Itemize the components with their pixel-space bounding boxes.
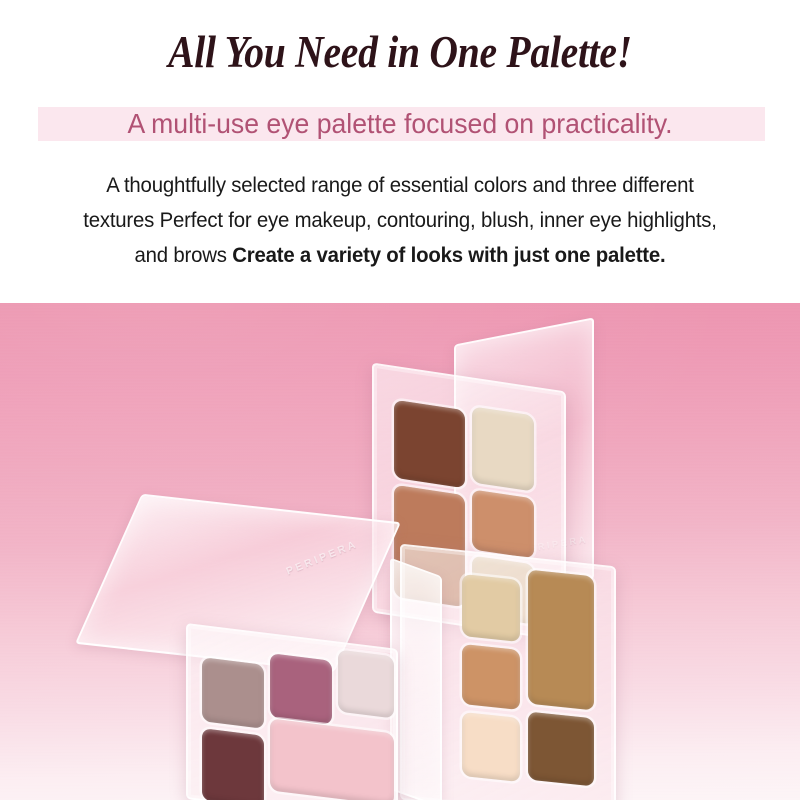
body-line-3: and brows Create a variety of looks with… bbox=[51, 238, 749, 273]
body-line-2: textures Perfect for eye makeup, contour… bbox=[51, 203, 749, 238]
body-line-1: A thoughtfully selected range of essenti… bbox=[51, 168, 749, 203]
pan-camel-matte bbox=[528, 570, 594, 711]
pan-ivory-matte bbox=[462, 712, 520, 782]
pan-dark-brown-matte bbox=[394, 400, 465, 489]
pan-plum-pink-shimmer bbox=[270, 653, 332, 725]
body-copy: A thoughtfully selected range of essenti… bbox=[40, 168, 760, 273]
pan-mauve-taupe-matte bbox=[202, 657, 264, 729]
body-line-3-regular: and brows bbox=[134, 244, 232, 267]
pan-chocolate-matte bbox=[528, 712, 594, 787]
pan-copper-shimmer bbox=[462, 644, 520, 710]
pan-baby-pink-matte bbox=[270, 718, 394, 800]
palette-center-right-warm bbox=[400, 555, 615, 800]
product-photo: PERIPERA PERIPERA bbox=[0, 303, 800, 800]
pan-gold-glitter bbox=[462, 574, 520, 642]
promo-text-block: All You Need in One Palette! A multi-use… bbox=[0, 0, 800, 303]
pan-white-glitter bbox=[338, 650, 394, 719]
body-line-3-bold: Create a variety of looks with just one … bbox=[232, 244, 665, 267]
pan-burgundy-matte bbox=[202, 728, 264, 800]
palette-lower-left-pink: PERIPERA bbox=[96, 508, 396, 800]
pan-peach-shimmer bbox=[472, 489, 534, 558]
pan-cream-matte bbox=[472, 406, 534, 491]
subtitle-row: A multi-use eye palette focused on pract… bbox=[0, 107, 800, 141]
page-title: All You Need in One Palette! bbox=[48, 26, 752, 78]
subtitle: A multi-use eye palette focused on pract… bbox=[20, 107, 780, 141]
